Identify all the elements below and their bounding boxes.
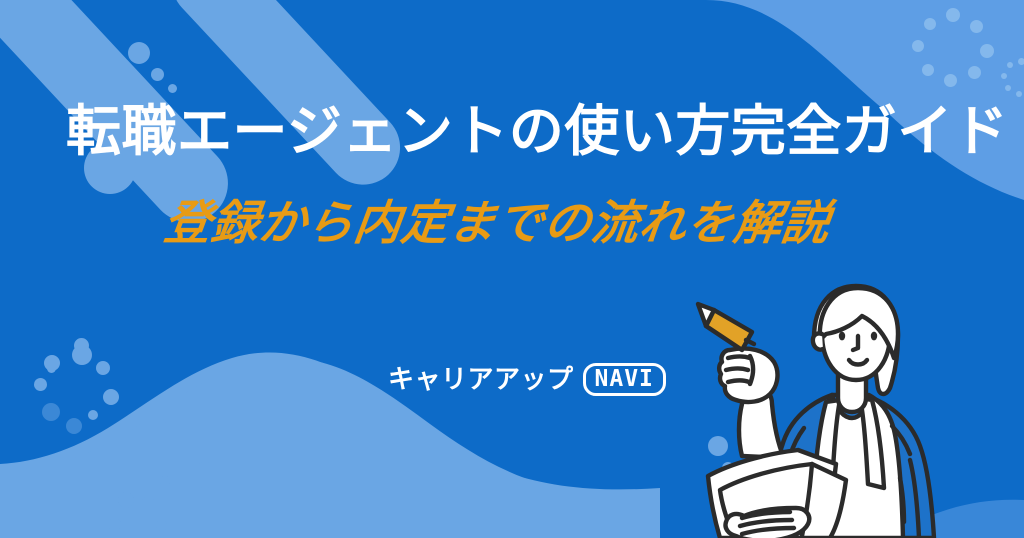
brand-name: キャリアアップ bbox=[388, 365, 574, 395]
knuckle-line-3 bbox=[728, 381, 749, 383]
eye-left bbox=[839, 332, 845, 341]
ring-dot bbox=[1016, 91, 1022, 97]
eye-right bbox=[871, 332, 877, 341]
bubble-dot bbox=[118, 492, 134, 508]
businesswoman-with-pencil-and-documents-illustration bbox=[686, 278, 966, 538]
ear-left bbox=[813, 333, 823, 349]
bubble-dot bbox=[128, 42, 150, 64]
bubble-dot bbox=[72, 345, 92, 365]
bubble-dot bbox=[42, 403, 60, 421]
sub-title: 登録から内定までの流れを解説 bbox=[161, 196, 1024, 252]
bubble-dot bbox=[108, 518, 121, 531]
ring-dot bbox=[924, 18, 936, 30]
bubble-dot bbox=[44, 355, 60, 371]
ring-dot bbox=[970, 20, 983, 33]
bubble-dot bbox=[151, 68, 164, 81]
bubble-dot bbox=[34, 378, 47, 391]
bubble-dot bbox=[142, 496, 154, 508]
brand-badge: NAVI bbox=[583, 363, 666, 396]
bubble-dot bbox=[192, 462, 218, 488]
brand-logo: キャリアアップ NAVI bbox=[388, 363, 666, 396]
bubble-dot bbox=[66, 418, 82, 434]
ring-dot bbox=[944, 74, 957, 87]
knuckle-line-2 bbox=[726, 369, 748, 371]
ring-dot bbox=[968, 66, 981, 79]
ring-dot bbox=[1018, 58, 1024, 65]
ring-dot bbox=[1007, 62, 1013, 68]
ring-dot bbox=[980, 44, 994, 58]
bubble-dot bbox=[168, 84, 177, 93]
ring-dot bbox=[912, 40, 924, 52]
ring-dot bbox=[1001, 73, 1007, 79]
bubble-dot bbox=[160, 476, 170, 486]
ring-dot bbox=[1005, 85, 1011, 91]
bubble-dot bbox=[277, 31, 296, 50]
bubble-dot bbox=[47, 364, 56, 373]
bubble-dot bbox=[96, 361, 110, 375]
blog-header-banner: 転職エージェントの使い方完全ガイド 登録から内定までの流れを解説 キャリアアップ… bbox=[0, 0, 1024, 538]
bubble-dot bbox=[297, 41, 308, 52]
bubble-dot bbox=[152, 418, 166, 432]
knuckle-line-1 bbox=[728, 357, 750, 359]
bubble-dot bbox=[156, 520, 167, 531]
dot-ring-large bbox=[908, 8, 994, 94]
bubble-dot bbox=[88, 410, 98, 420]
bubble-dot bbox=[74, 338, 89, 353]
bubble-dot bbox=[103, 389, 119, 405]
dot-ring-small bbox=[1000, 58, 1024, 98]
ring-dot bbox=[946, 8, 960, 22]
ring-dot bbox=[922, 64, 934, 76]
main-title: 転職エージェントの使い方完全ガイド bbox=[66, 100, 966, 162]
bubble-dot bbox=[170, 438, 190, 458]
